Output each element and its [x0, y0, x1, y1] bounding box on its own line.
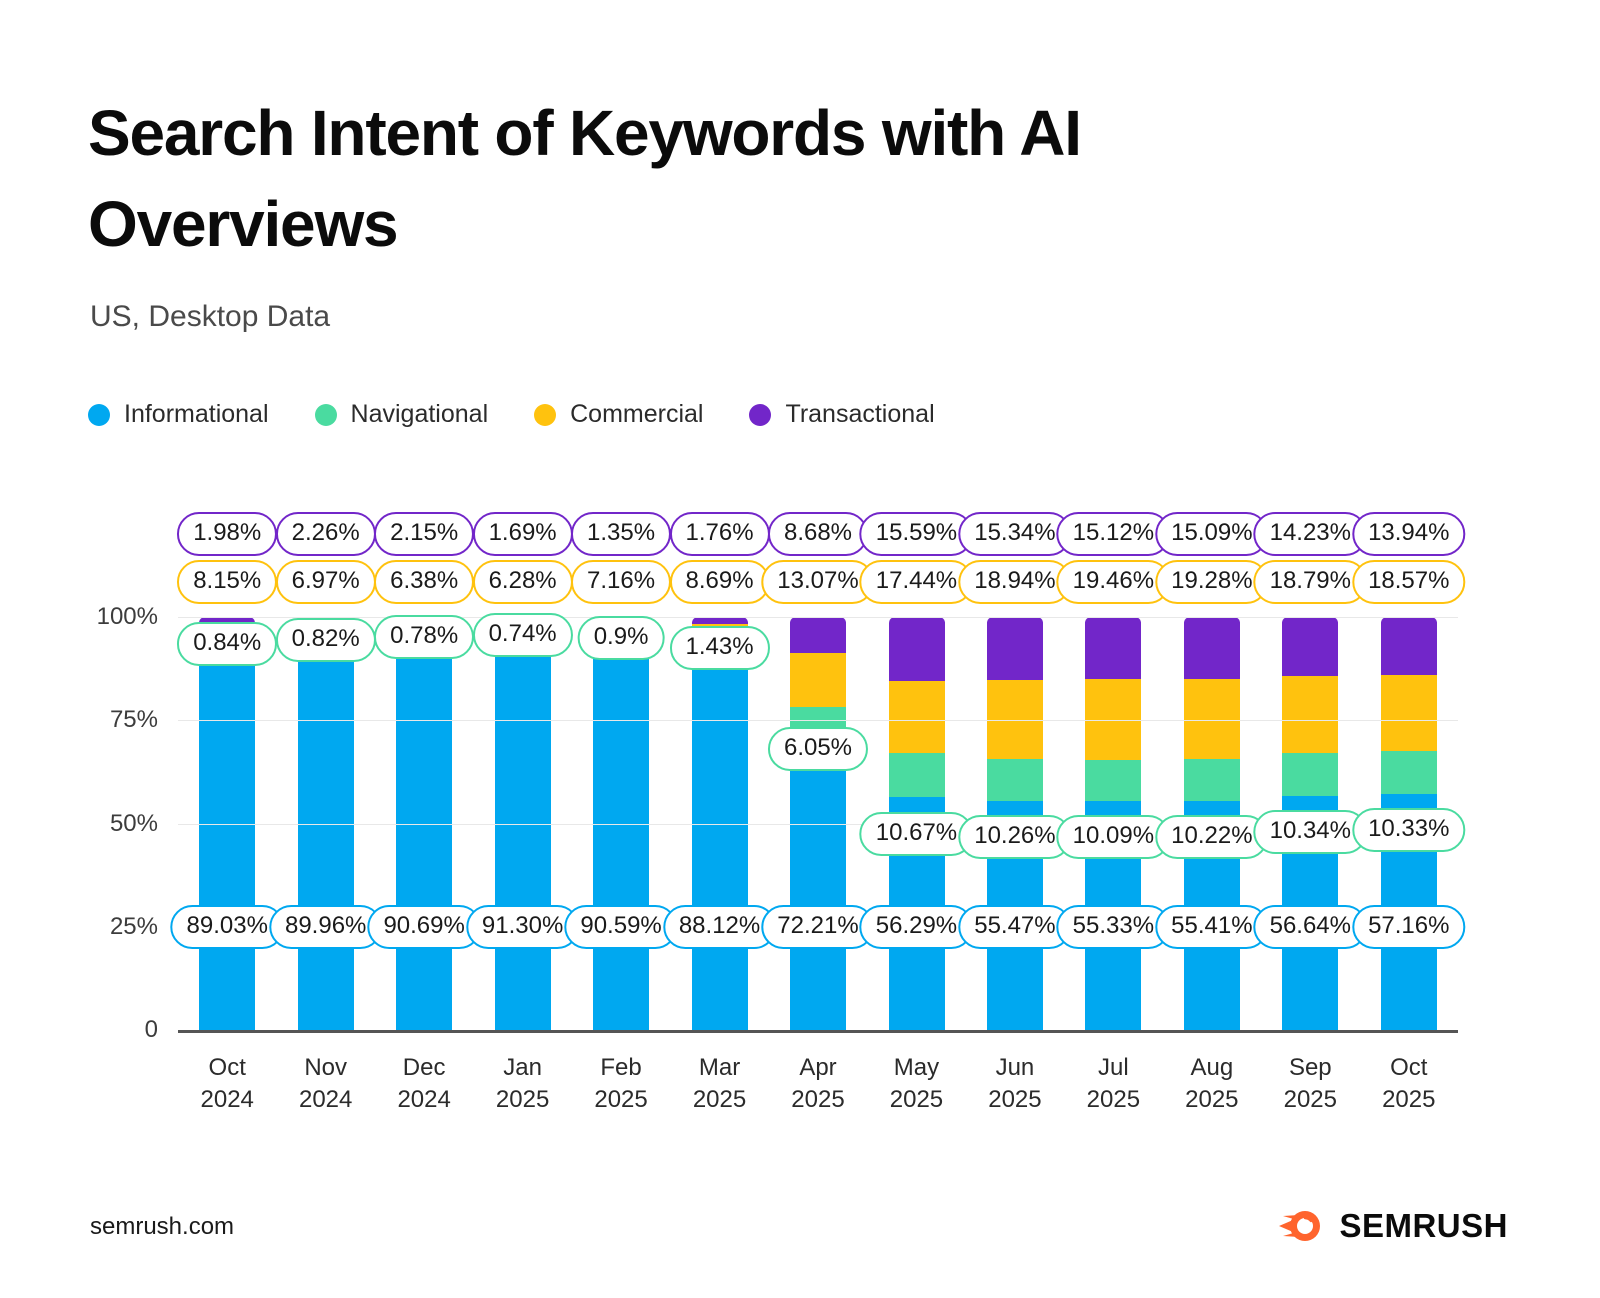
x-tick-year: 2025: [1163, 1084, 1261, 1116]
value-pill-commercial: 6.28%: [473, 560, 573, 604]
value-pill-navigational: 10.34%: [1254, 810, 1367, 854]
y-axis-tick-label: 0: [66, 1016, 158, 1044]
x-tick-month: Aug: [1163, 1052, 1261, 1084]
stacked-bar-chart: 025%50%75%100%Oct2024Nov2024Dec2024Jan20…: [0, 0, 1600, 1298]
x-axis-tick-label: Apr2025: [769, 1052, 867, 1117]
value-pill-navigational: 10.33%: [1352, 808, 1465, 852]
value-pill-commercial: 19.46%: [1057, 560, 1170, 604]
bar-segment-transactional[interactable]: [790, 617, 846, 653]
infographic-page: Search Intent of Keywords with AI Overvi…: [0, 0, 1600, 1298]
bar-segment-informational[interactable]: [593, 656, 649, 1030]
value-pill-informational: 91.30%: [466, 905, 579, 949]
value-pill-transactional: 15.59%: [860, 512, 973, 556]
value-pill-informational: 55.33%: [1057, 905, 1170, 949]
x-tick-year: 2025: [572, 1084, 670, 1116]
bar-segment-transactional[interactable]: [1085, 617, 1141, 679]
value-pill-commercial: 18.57%: [1352, 560, 1465, 604]
value-pill-transactional: 13.94%: [1352, 512, 1465, 556]
x-tick-month: Oct: [178, 1052, 276, 1084]
x-axis-tick-label: May2025: [867, 1052, 965, 1117]
value-pill-navigational: 0.78%: [374, 615, 474, 659]
value-pill-transactional: 1.76%: [670, 512, 770, 556]
bar-segment-navigational[interactable]: [1282, 753, 1338, 796]
x-tick-month: Apr: [769, 1052, 867, 1084]
x-tick-month: Feb: [572, 1052, 670, 1084]
x-tick-month: Jun: [966, 1052, 1064, 1084]
x-tick-year: 2025: [474, 1084, 572, 1116]
semrush-comet-icon: [1279, 1209, 1325, 1243]
x-tick-year: 2024: [375, 1084, 473, 1116]
value-pill-commercial: 17.44%: [860, 560, 973, 604]
x-tick-year: 2025: [671, 1084, 769, 1116]
bar-segment-navigational[interactable]: [987, 759, 1043, 801]
value-pill-informational: 55.41%: [1155, 905, 1268, 949]
value-pill-navigational: 0.74%: [473, 613, 573, 657]
value-pill-transactional: 15.09%: [1155, 512, 1268, 556]
x-axis-tick-label: Mar2025: [671, 1052, 769, 1117]
value-pill-informational: 90.69%: [367, 905, 480, 949]
bar-segment-informational[interactable]: [495, 653, 551, 1030]
value-pill-transactional: 2.15%: [374, 512, 474, 556]
x-axis-tick-label: Feb2025: [572, 1052, 670, 1117]
value-pill-transactional: 15.34%: [958, 512, 1071, 556]
value-pill-informational: 88.12%: [663, 905, 776, 949]
value-pill-navigational: 0.84%: [177, 622, 277, 666]
x-axis-tick-label: Aug2025: [1163, 1052, 1261, 1117]
x-axis-tick-label: Sep2025: [1261, 1052, 1359, 1117]
bar-segment-navigational[interactable]: [1184, 759, 1240, 801]
value-pill-informational: 89.03%: [171, 905, 284, 949]
value-pill-commercial: 13.07%: [761, 560, 874, 604]
value-pill-commercial: 6.97%: [276, 560, 376, 604]
x-tick-month: Jan: [474, 1052, 572, 1084]
bar-segment-informational[interactable]: [298, 658, 354, 1030]
bar-segment-informational[interactable]: [199, 662, 255, 1030]
x-tick-month: Mar: [671, 1052, 769, 1084]
bar-segment-transactional[interactable]: [1282, 617, 1338, 676]
x-tick-month: Dec: [375, 1052, 473, 1084]
y-axis-tick-label: 25%: [66, 913, 158, 941]
value-pill-transactional: 15.12%: [1057, 512, 1170, 556]
x-tick-year: 2025: [1360, 1084, 1458, 1116]
bar-segment-commercial[interactable]: [1184, 679, 1240, 759]
bar-segment-commercial[interactable]: [790, 653, 846, 707]
x-tick-year: 2025: [1064, 1084, 1162, 1116]
value-pill-commercial: 19.28%: [1155, 560, 1268, 604]
x-tick-year: 2024: [178, 1084, 276, 1116]
value-pill-navigational: 10.22%: [1155, 815, 1268, 859]
x-tick-month: Nov: [277, 1052, 375, 1084]
source-url: semrush.com: [90, 1213, 234, 1241]
bar-segment-navigational[interactable]: [889, 753, 945, 797]
gridline: [178, 617, 1458, 618]
value-pill-informational: 56.64%: [1254, 905, 1367, 949]
value-pill-transactional: 1.98%: [177, 512, 277, 556]
bar-segment-transactional[interactable]: [987, 617, 1043, 680]
x-axis-line: [178, 1030, 1458, 1033]
x-axis-tick-label: Dec2024: [375, 1052, 473, 1117]
x-axis-tick-label: Jun2025: [966, 1052, 1064, 1117]
x-axis-tick-label: Jul2025: [1064, 1052, 1162, 1117]
bar-segment-transactional[interactable]: [1381, 617, 1437, 675]
x-tick-month: Oct: [1360, 1052, 1458, 1084]
value-pill-navigational: 0.82%: [276, 618, 376, 662]
value-pill-navigational: 0.9%: [578, 616, 665, 660]
gridline: [178, 720, 1458, 721]
y-axis-tick-label: 75%: [66, 706, 158, 734]
value-pill-informational: 57.16%: [1352, 905, 1465, 949]
x-tick-year: 2025: [867, 1084, 965, 1116]
x-tick-month: May: [867, 1052, 965, 1084]
value-pill-navigational: 10.26%: [958, 815, 1071, 859]
x-axis-tick-label: Oct2025: [1360, 1052, 1458, 1117]
value-pill-transactional: 1.69%: [473, 512, 573, 556]
value-pill-navigational: 10.09%: [1057, 815, 1170, 859]
brand-name: SEMRUSH: [1339, 1207, 1508, 1245]
x-tick-year: 2025: [966, 1084, 1064, 1116]
value-pill-informational: 90.59%: [564, 905, 677, 949]
bar-segment-navigational[interactable]: [1085, 760, 1141, 802]
bar-segment-transactional[interactable]: [889, 617, 945, 681]
bar-segment-informational[interactable]: [790, 732, 846, 1030]
value-pill-navigational: 6.05%: [768, 727, 868, 771]
value-pill-informational: 72.21%: [761, 905, 874, 949]
y-axis-tick-label: 100%: [66, 603, 158, 631]
x-tick-year: 2025: [769, 1084, 867, 1116]
bar-segment-commercial[interactable]: [1381, 675, 1437, 752]
value-pill-transactional: 2.26%: [276, 512, 376, 556]
value-pill-commercial: 7.16%: [571, 560, 671, 604]
bar-segment-informational[interactable]: [396, 655, 452, 1030]
x-tick-year: 2025: [1261, 1084, 1359, 1116]
value-pill-commercial: 18.94%: [958, 560, 1071, 604]
value-pill-commercial: 6.38%: [374, 560, 474, 604]
value-pill-transactional: 14.23%: [1254, 512, 1367, 556]
x-tick-year: 2024: [277, 1084, 375, 1116]
value-pill-informational: 89.96%: [269, 905, 382, 949]
y-axis-tick-label: 50%: [66, 810, 158, 838]
value-pill-transactional: 1.35%: [571, 512, 671, 556]
bar-segment-transactional[interactable]: [1184, 617, 1240, 679]
bar-segment-navigational[interactable]: [1381, 751, 1437, 794]
value-pill-informational: 55.47%: [958, 905, 1071, 949]
bar-segment-transactional[interactable]: [692, 617, 748, 624]
value-pill-navigational: 10.67%: [860, 812, 973, 856]
bar-segment-commercial[interactable]: [1282, 676, 1338, 754]
x-axis-tick-label: Nov2024: [277, 1052, 375, 1117]
value-pill-informational: 56.29%: [860, 905, 973, 949]
x-axis-tick-label: Jan2025: [474, 1052, 572, 1117]
value-pill-commercial: 8.15%: [177, 560, 277, 604]
value-pill-transactional: 8.68%: [768, 512, 868, 556]
value-pill-commercial: 8.69%: [670, 560, 770, 604]
x-tick-month: Jul: [1064, 1052, 1162, 1084]
x-tick-month: Sep: [1261, 1052, 1359, 1084]
bar-segment-commercial[interactable]: [889, 681, 945, 753]
value-pill-commercial: 18.79%: [1254, 560, 1367, 604]
brand-logo: SEMRUSH: [1279, 1207, 1508, 1245]
value-pill-navigational: 1.43%: [670, 626, 770, 670]
x-axis-tick-label: Oct2024: [178, 1052, 276, 1117]
